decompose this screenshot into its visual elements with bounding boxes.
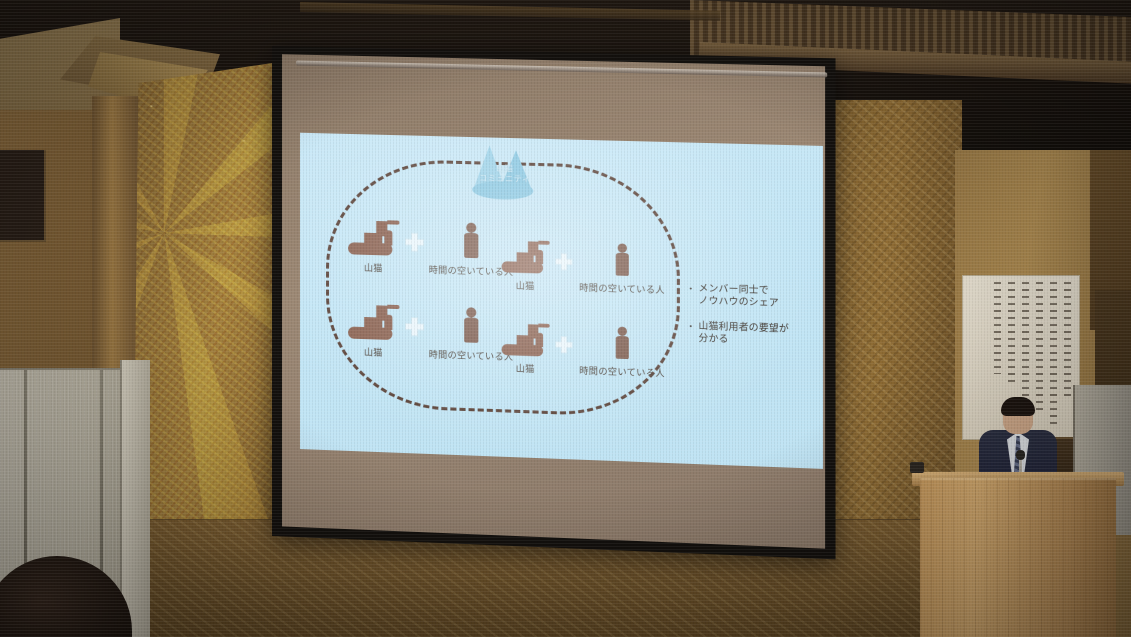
partition-panel-left-edge xyxy=(120,360,150,637)
bullet-line1: メンバー同士で xyxy=(699,283,769,296)
machine-unit: 山猫 xyxy=(500,239,551,293)
bullet-text: 山猫利用者の要望が 分かる xyxy=(699,321,789,348)
podium xyxy=(920,478,1116,637)
machine-unit: 山猫 xyxy=(500,321,551,375)
pair-group: 山猫 時間の空いている人 xyxy=(500,321,665,379)
scroll-column xyxy=(1036,282,1043,412)
plus-icon xyxy=(555,335,575,356)
pair-group: 山猫 時間の空いている人 xyxy=(346,302,513,363)
pair-group: 山猫 時間の空いている人 xyxy=(500,239,665,297)
benefits-bullet-list: ・ メンバー同士で ノウハウのシェア ・ 山猫利用者の要望が 分かる xyxy=(686,283,819,363)
scroll-column xyxy=(994,282,1001,374)
bullet-text: メンバー同士で ノウハウのシェア xyxy=(699,283,779,310)
projected-slide: 山猫 コミュニティ xyxy=(300,133,823,469)
bullet-line2: ノウハウのシェア xyxy=(699,295,779,309)
microphone-icon xyxy=(1016,450,1025,460)
machine-label: 山猫 xyxy=(364,261,383,275)
pair-group: 山猫 時間の空いている人 xyxy=(346,218,513,278)
bullet-item: ・ 山猫利用者の要望が 分かる xyxy=(686,320,819,349)
bullet-item: ・ メンバー同士で ノウハウのシェア xyxy=(686,283,819,312)
plus-icon xyxy=(404,232,424,253)
machine-unit: 山猫 xyxy=(346,302,400,359)
person-icon xyxy=(460,306,482,347)
person-icon xyxy=(612,242,633,280)
machine-label: 山猫 xyxy=(516,279,535,293)
crawler-machine-icon xyxy=(500,239,551,278)
logo-line2: コミュニティ xyxy=(469,173,540,185)
presenter-hair xyxy=(1001,397,1035,416)
logo-text: 山猫 コミュニティ xyxy=(469,163,540,185)
bullet-marker: ・ xyxy=(686,320,695,345)
scroll-column xyxy=(1008,282,1015,386)
person-icon xyxy=(460,221,482,262)
podium-wood-grain xyxy=(920,478,1116,637)
crawler-machine-icon xyxy=(500,321,551,360)
plus-icon xyxy=(555,252,575,273)
person-unit: 時間の空いている人 xyxy=(579,241,665,296)
projection-screen: 山猫 コミュニティ xyxy=(272,46,836,559)
scroll-column xyxy=(1064,282,1071,400)
wall-recess-dark xyxy=(0,150,46,242)
crawler-machine-icon xyxy=(346,218,400,260)
bullet-marker: ・ xyxy=(686,283,695,308)
machine-unit: 山猫 xyxy=(346,218,400,275)
screen-roller-bar xyxy=(296,61,827,78)
mountain-icon: 山猫 コミュニティ xyxy=(469,139,540,203)
person-icon xyxy=(612,325,633,363)
machine-label: 山猫 xyxy=(364,345,383,359)
plus-icon xyxy=(404,316,424,337)
machine-label: 山猫 xyxy=(516,361,535,375)
bullet-line2: 分かる xyxy=(699,333,729,345)
person-unit: 時間の空いている人 xyxy=(579,324,665,380)
person-label: 時間の空いている人 xyxy=(579,280,665,296)
crawler-machine-icon xyxy=(346,302,400,344)
conference-hall-photo: 山猫 コミュニティ xyxy=(0,0,1131,637)
podium-cup xyxy=(910,462,924,473)
screen-surface: 山猫 コミュニティ xyxy=(282,54,825,548)
